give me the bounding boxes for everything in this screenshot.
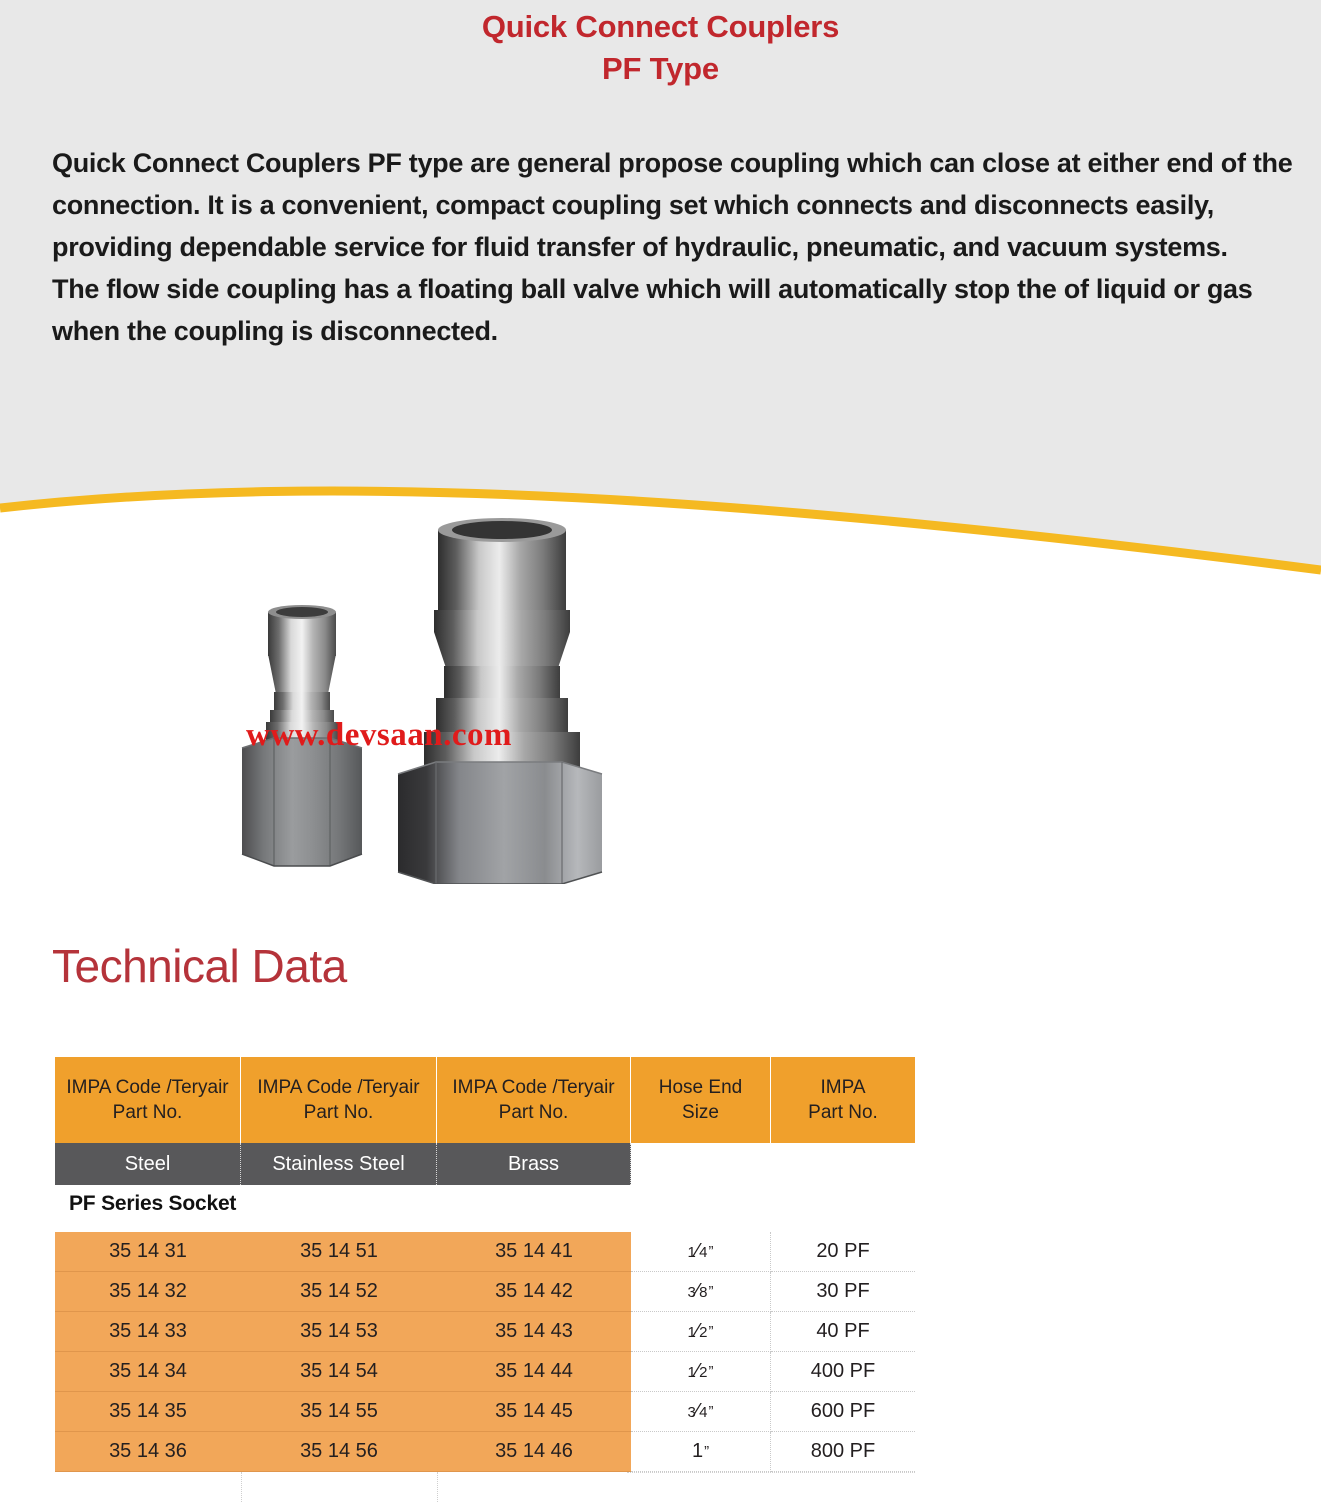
cell-impa-part-no: 600 PF <box>771 1392 915 1432</box>
hero-section: Quick Connect Couplers PF Type Quick Con… <box>0 0 1321 572</box>
technical-data-table: IMPA Code /Teryair Part No. IMPA Code /T… <box>55 1057 915 1185</box>
intro-paragraph-1: Quick Connect Couplers PF type are gener… <box>52 142 1297 268</box>
table-header-row: IMPA Code /Teryair Part No. IMPA Code /T… <box>55 1057 915 1143</box>
cell-stainless-code: 35 14 54 <box>241 1352 437 1392</box>
cell-hose-end-size: 1⁄2” <box>631 1352 771 1392</box>
header-line1: IMPA Code /Teryair <box>452 1075 614 1100</box>
column-header-impa-part-no: IMPA Part No. <box>771 1057 915 1143</box>
table-row: 35 14 3135 14 5135 14 411⁄4”20 PF <box>55 1232 915 1272</box>
column-header-steel-code: IMPA Code /Teryair Part No. <box>55 1057 241 1143</box>
cell-brass-code: 35 14 46 <box>437 1432 631 1472</box>
cell-hose-end-size: 1” <box>631 1432 771 1472</box>
intro-paragraph-2: The flow side coupling has a floating ba… <box>52 268 1297 352</box>
column-header-hose-end-size: Hose End Size <box>631 1057 771 1143</box>
material-stainless-steel: Stainless Steel <box>241 1143 437 1185</box>
header-line2: Size <box>682 1100 719 1125</box>
cell-steel-code: 35 14 36 <box>55 1432 241 1472</box>
tail-rule-1 <box>241 1472 242 1502</box>
header-line2: Part No. <box>113 1100 183 1125</box>
page-title: Quick Connect Couplers PF Type <box>0 6 1321 90</box>
table-row: 35 14 3235 14 5235 14 423⁄8”30 PF <box>55 1272 915 1312</box>
cell-impa-part-no: 400 PF <box>771 1352 915 1392</box>
header-line2: Part No. <box>499 1100 569 1125</box>
cell-impa-part-no: 20 PF <box>771 1232 915 1272</box>
header-line1: IMPA Code /Teryair <box>66 1075 228 1100</box>
cell-brass-code: 35 14 41 <box>437 1232 631 1272</box>
cell-steel-code: 35 14 31 <box>55 1232 241 1272</box>
column-header-stainless-code: IMPA Code /Teryair Part No. <box>241 1057 437 1143</box>
table-body: 35 14 3135 14 5135 14 411⁄4”20 PF35 14 3… <box>55 1232 915 1472</box>
tail-rule-horizontal <box>627 1472 915 1473</box>
cell-stainless-code: 35 14 56 <box>241 1432 437 1472</box>
column-header-brass-code: IMPA Code /Teryair Part No. <box>437 1057 631 1143</box>
header-line1: IMPA Code /Teryair <box>257 1075 419 1100</box>
table-row: 35 14 3435 14 5435 14 441⁄2”400 PF <box>55 1352 915 1392</box>
cell-brass-code: 35 14 42 <box>437 1272 631 1312</box>
page-title-line2: PF Type <box>0 48 1321 90</box>
cell-hose-end-size: 1⁄4” <box>631 1232 771 1272</box>
cell-impa-part-no: 40 PF <box>771 1312 915 1352</box>
material-steel: Steel <box>55 1143 241 1185</box>
cell-steel-code: 35 14 32 <box>55 1272 241 1312</box>
material-band-row: Steel Stainless Steel Brass <box>55 1143 915 1185</box>
coupler-large <box>398 518 602 884</box>
header-line2: Part No. <box>304 1100 374 1125</box>
header-line1: Hose End <box>659 1075 742 1100</box>
intro-text: Quick Connect Couplers PF type are gener… <box>52 142 1297 352</box>
cell-hose-end-size: 3⁄4” <box>631 1392 771 1432</box>
cell-stainless-code: 35 14 53 <box>241 1312 437 1352</box>
header-line2: Part No. <box>808 1100 878 1125</box>
cell-brass-code: 35 14 45 <box>437 1392 631 1432</box>
material-brass: Brass <box>437 1143 631 1185</box>
cell-stainless-code: 35 14 52 <box>241 1272 437 1312</box>
table-row: 35 14 3635 14 5635 14 461”800 PF <box>55 1432 915 1472</box>
table-row: 35 14 3335 14 5335 14 431⁄2”40 PF <box>55 1312 915 1352</box>
technical-data-heading: Technical Data <box>52 940 347 992</box>
website-watermark: www.devsaan.com <box>246 717 596 754</box>
tail-rule-2 <box>437 1472 438 1502</box>
cell-hose-end-size: 3⁄8” <box>631 1272 771 1312</box>
cell-steel-code: 35 14 34 <box>55 1352 241 1392</box>
cell-steel-code: 35 14 33 <box>55 1312 241 1352</box>
series-label: PF Series Socket <box>69 1192 236 1216</box>
cell-steel-code: 35 14 35 <box>55 1392 241 1432</box>
cell-brass-code: 35 14 43 <box>437 1312 631 1352</box>
cell-impa-part-no: 800 PF <box>771 1432 915 1472</box>
page-title-line1: Quick Connect Couplers <box>482 9 839 44</box>
table-row: 35 14 3535 14 5535 14 453⁄4”600 PF <box>55 1392 915 1432</box>
cell-hose-end-size: 1⁄2” <box>631 1312 771 1352</box>
cell-impa-part-no: 30 PF <box>771 1272 915 1312</box>
table-footer-rules <box>55 1472 915 1502</box>
cell-stainless-code: 35 14 51 <box>241 1232 437 1272</box>
product-image <box>226 516 646 884</box>
header-line1: IMPA <box>820 1075 865 1100</box>
material-band-spacer <box>631 1143 915 1185</box>
cell-brass-code: 35 14 44 <box>437 1352 631 1392</box>
cell-stainless-code: 35 14 55 <box>241 1392 437 1432</box>
